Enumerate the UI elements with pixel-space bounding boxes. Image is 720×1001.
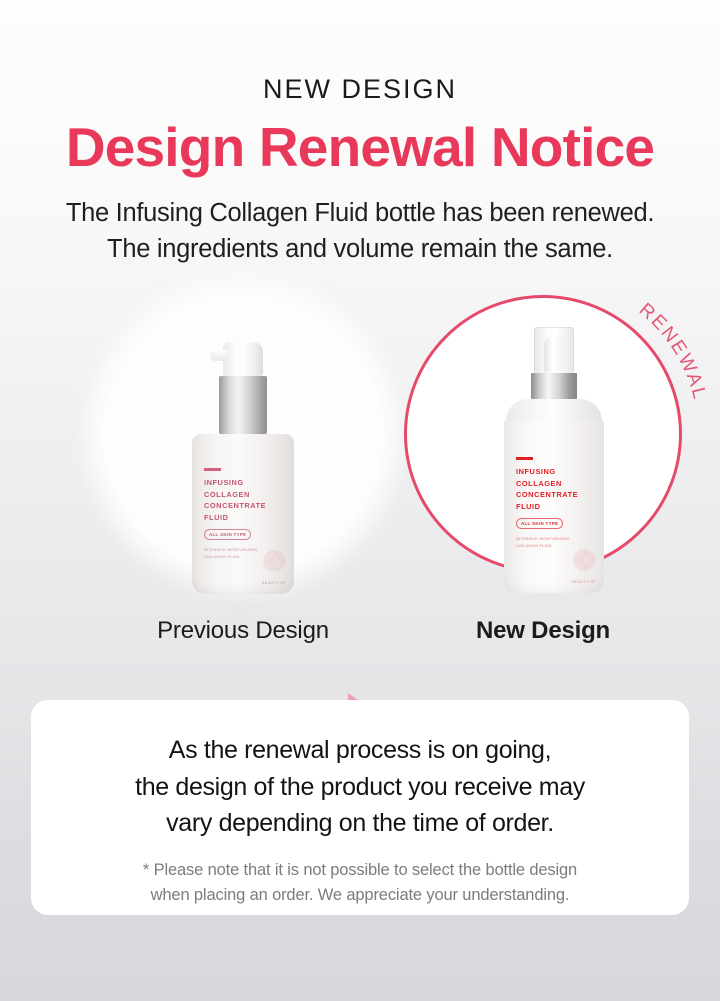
bottle-comparison-section: INFUSING COLLAGEN CONCENTRATE FLUID ALL … bbox=[0, 287, 720, 617]
skin-type-badge: ALL SKIN TYPE bbox=[516, 518, 563, 528]
label-sub-line-2: COLLAGEN FLUID bbox=[516, 543, 578, 550]
label-line-2: COLLAGEN bbox=[204, 489, 266, 500]
brand-mark: BEAUTY OF bbox=[572, 580, 596, 584]
bottle-label: INFUSING COLLAGEN CONCENTRATE FLUID ALL … bbox=[204, 468, 266, 561]
previous-design-bottle: INFUSING COLLAGEN CONCENTRATE FLUID ALL … bbox=[183, 342, 303, 594]
new-design-bottle: INFUSING COLLAGEN CONCENTRATE FLUID ALL … bbox=[490, 327, 618, 593]
notice-main-line-3: vary depending on the time of order. bbox=[31, 805, 689, 842]
design-renewal-notice-page: NEW DESIGN Design Renewal Notice The Inf… bbox=[0, 0, 720, 1001]
seal-emblem-icon bbox=[573, 549, 595, 571]
eyebrow-label: NEW DESIGN bbox=[0, 0, 720, 103]
subtitle-line-1: The Infusing Collagen Fluid bottle has b… bbox=[0, 195, 720, 231]
subtitle-line-2: The ingredients and volume remain the sa… bbox=[0, 231, 720, 267]
label-line-3: CONCENTRATE bbox=[204, 500, 266, 511]
label-line-4: FLUID bbox=[204, 512, 266, 523]
bottle-shoulder bbox=[506, 399, 602, 421]
label-dash-icon bbox=[204, 468, 221, 471]
new-design-caption: New Design bbox=[403, 617, 683, 645]
header-section: NEW DESIGN Design Renewal Notice The Inf… bbox=[0, 0, 720, 267]
label-line-2: COLLAGEN bbox=[516, 478, 578, 489]
pump-cap-icon bbox=[223, 342, 263, 376]
comparison-captions: Previous Design New Design bbox=[0, 617, 720, 663]
notice-sub-line-1: * Please note that it is not possible to… bbox=[31, 858, 689, 883]
bottle-collar bbox=[531, 373, 577, 399]
bottle-body: INFUSING COLLAGEN CONCENTRATE FLUID ALL … bbox=[504, 421, 604, 593]
label-sub-line-2: COLLAGEN FLUID bbox=[204, 554, 266, 561]
brand-mark: BEAUTY OF bbox=[262, 581, 286, 585]
skin-type-badge: ALL SKIN TYPE bbox=[204, 529, 251, 539]
label-line-3: CONCENTRATE bbox=[516, 489, 578, 500]
notice-box: As the renewal process is on going, the … bbox=[31, 700, 689, 915]
label-sub-line-1: INTENSIVE MOISTURIZING bbox=[204, 547, 266, 554]
label-line-1: INFUSING bbox=[516, 466, 578, 477]
bottle-label: INFUSING COLLAGEN CONCENTRATE FLUID ALL … bbox=[516, 457, 578, 550]
notice-main-line-1: As the renewal process is on going, bbox=[31, 732, 689, 769]
notice-main-line-2: the design of the product you receive ma… bbox=[31, 769, 689, 806]
notice-main-text: As the renewal process is on going, the … bbox=[31, 700, 689, 842]
notice-sub-line-2: when placing an order. We appreciate you… bbox=[31, 883, 689, 908]
page-title: Design Renewal Notice bbox=[0, 119, 720, 177]
previous-design-caption: Previous Design bbox=[103, 617, 383, 645]
clear-overcap-icon bbox=[534, 327, 574, 373]
label-sub-line-1: INTENSIVE MOISTURIZING bbox=[516, 536, 578, 543]
bottle-body: INFUSING COLLAGEN CONCENTRATE FLUID ALL … bbox=[192, 434, 294, 594]
seal-emblem-icon bbox=[263, 550, 285, 572]
subtitle-text: The Infusing Collagen Fluid bottle has b… bbox=[0, 195, 720, 267]
label-line-1: INFUSING bbox=[204, 477, 266, 488]
bottle-collar bbox=[219, 376, 267, 434]
label-dash-icon bbox=[516, 457, 533, 460]
notice-disclaimer-text: * Please note that it is not possible to… bbox=[31, 858, 689, 908]
label-line-4: FLUID bbox=[516, 501, 578, 512]
